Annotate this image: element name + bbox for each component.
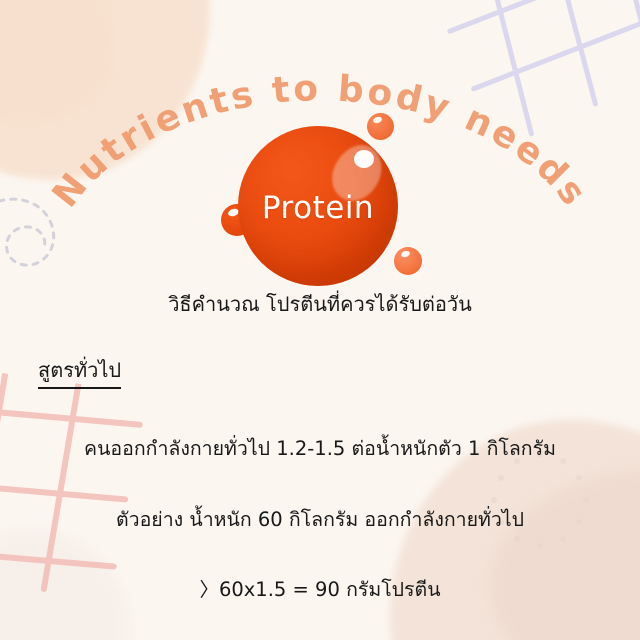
body-result-line: 〉60x1.5 = 90 กรัมโปรตีน xyxy=(0,573,640,605)
orange-bubble-bottom-icon xyxy=(394,247,422,275)
protein-sphere-label: Protein xyxy=(238,126,398,286)
protein-sphere: Protein xyxy=(238,126,398,286)
subheading-row: สูตรทั่วไป xyxy=(0,354,640,433)
poster-canvas: Nutrients to body needs Protein วิธีคำนว… xyxy=(0,0,640,640)
body-example-line: ตัวอย่าง น้ำหนัก 60 กิโลกรัม ออกกำลังกาย… xyxy=(0,504,640,535)
body-copy: วิธีคำนวณ โปรตีนที่ควรได้รับต่อวัน สูตรท… xyxy=(0,288,640,605)
body-heading: วิธีคำนวณ โปรตีนที่ควรได้รับต่อวัน xyxy=(0,288,640,320)
body-formula-line: คนออกกำลังกายทั่วไป 1.2-1.5 ต่อน้ำหนักตั… xyxy=(0,433,640,464)
body-subheading: สูตรทั่วไป xyxy=(38,354,121,389)
